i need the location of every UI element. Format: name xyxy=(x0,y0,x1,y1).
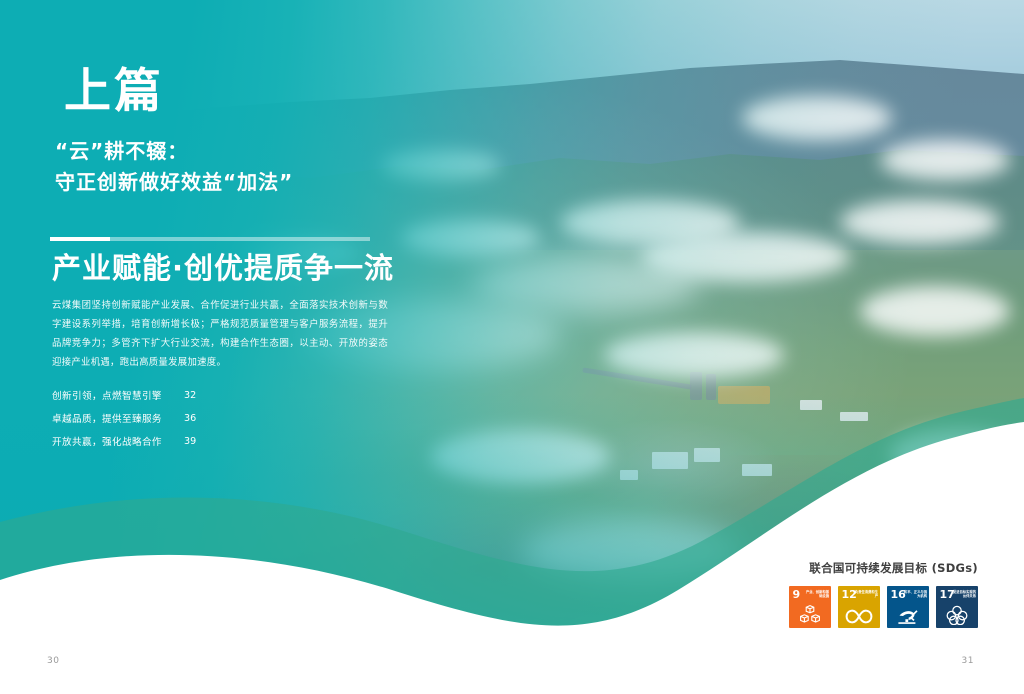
dove-gavel-icon xyxy=(887,606,929,625)
toc-item-page: 32 xyxy=(184,390,196,401)
sdg-goal-9-card[interactable]: 9 产业、创新和基础设施 xyxy=(789,586,831,628)
industry-cubes-icon xyxy=(789,605,831,625)
subtitle-line-2: 守正创新做好效益“加法” xyxy=(55,167,293,198)
list-item[interactable]: 开放共赢，强化战略合作 39 xyxy=(52,432,262,450)
page-number-right: 31 xyxy=(962,656,974,666)
sdg-goal-text: 促进目标实现的伙伴关系 xyxy=(950,590,976,598)
toc-item-label: 开放共赢，强化战略合作 xyxy=(52,434,184,448)
sdg-heading: 联合国可持续发展目标 (SDGs) xyxy=(789,560,978,576)
page-number-left: 30 xyxy=(47,656,59,666)
chapter-subtitle: “云”耕不辍： 守正创新做好效益“加法” xyxy=(55,136,293,198)
section-title: 产业赋能·创优提质争一流 xyxy=(52,252,394,285)
table-of-contents: 创新引领，点燃智慧引擎 32 卓越品质，提供至臻服务 36 开放共赢，强化战略合… xyxy=(52,386,262,455)
partnership-circles-icon xyxy=(936,605,978,625)
toc-item-page: 39 xyxy=(184,436,196,447)
report-spread: 上篇 “云”耕不辍： 守正创新做好效益“加法” 产业赋能·创优提质争一流 云煤集… xyxy=(0,0,1024,694)
section-paragraph: 云煤集团坚持创新赋能产业发展、合作促进行业共赢，全面落实技术创新与数字建设系列举… xyxy=(52,296,388,372)
infinity-icon xyxy=(838,608,880,625)
sdg-block: 联合国可持续发展目标 (SDGs) 9 产业、创新和基础设施 xyxy=(789,560,978,628)
content-layer: 上篇 “云”耕不辍： 守正创新做好效益“加法” 产业赋能·创优提质争一流 云煤集… xyxy=(0,0,1024,694)
list-item[interactable]: 卓越品质，提供至臻服务 36 xyxy=(52,409,262,427)
sdg-icon-row: 9 产业、创新和基础设施 xyxy=(789,586,978,628)
sdg-goal-17-card[interactable]: 17 促进目标实现的伙伴关系 xyxy=(936,586,978,628)
sdg-goal-12-card[interactable]: 12 负责任消费和生产 xyxy=(838,586,880,628)
sdg-goal-text: 负责任消费和生产 xyxy=(852,590,878,598)
sdg-goal-text: 产业、创新和基础设施 xyxy=(803,590,829,598)
toc-item-label: 卓越品质，提供至臻服务 xyxy=(52,411,184,425)
list-item[interactable]: 创新引领，点燃智慧引擎 32 xyxy=(52,386,262,404)
subtitle-line-1: “云”耕不辍： xyxy=(55,136,293,167)
sdg-goal-16-card[interactable]: 16 和平、正义与强大机构 xyxy=(887,586,929,628)
toc-item-label: 创新引领，点燃智慧引擎 xyxy=(52,388,184,402)
chapter-label: 上篇 xyxy=(64,68,164,115)
sdg-goal-text: 和平、正义与强大机构 xyxy=(901,590,927,598)
sdg-goal-number: 9 xyxy=(793,589,801,600)
title-divider xyxy=(50,237,370,241)
toc-item-page: 36 xyxy=(184,413,196,424)
